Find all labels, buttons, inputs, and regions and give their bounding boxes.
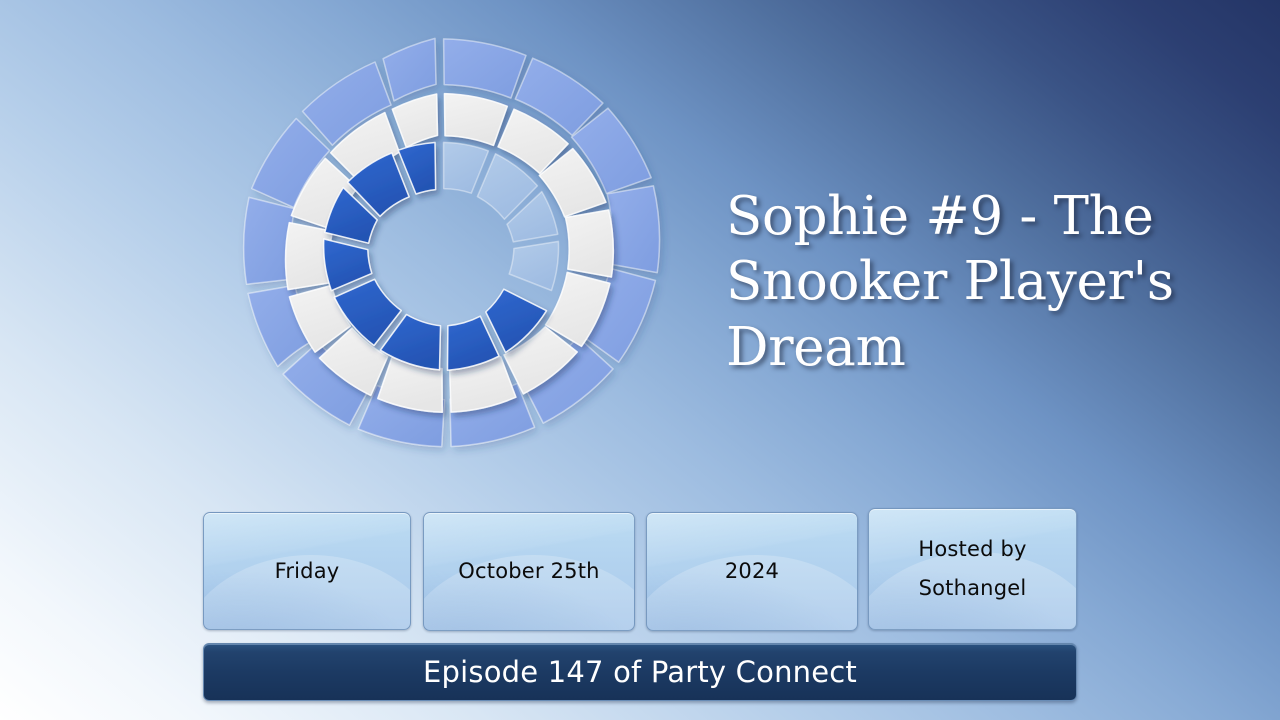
info-box-year[interactable]: 2024 (646, 512, 858, 631)
info-box-date[interactable]: October 25th (423, 512, 635, 631)
info-box-host-label: Hosted by Sothangel (918, 530, 1026, 608)
page-title: Sophie #9 - The Snooker Player's Dream (726, 184, 1226, 381)
episode-banner[interactable]: Episode 147 of Party Connect (203, 643, 1077, 701)
segmented-radial-rings-graphic (168, 18, 684, 488)
episode-banner-label: Episode 147 of Party Connect (423, 655, 857, 689)
info-box-year-label: 2024 (725, 552, 779, 591)
info-box-date-label: October 25th (458, 552, 599, 591)
info-box-row: Friday October 25th 2024 Hosted by Sotha… (203, 508, 1077, 630)
info-box-day-label: Friday (275, 552, 340, 591)
presentation-slide: Sophie #9 - The Snooker Player's Dream F… (0, 0, 1280, 720)
info-box-host[interactable]: Hosted by Sothangel (868, 508, 1077, 630)
info-box-day[interactable]: Friday (203, 512, 411, 630)
